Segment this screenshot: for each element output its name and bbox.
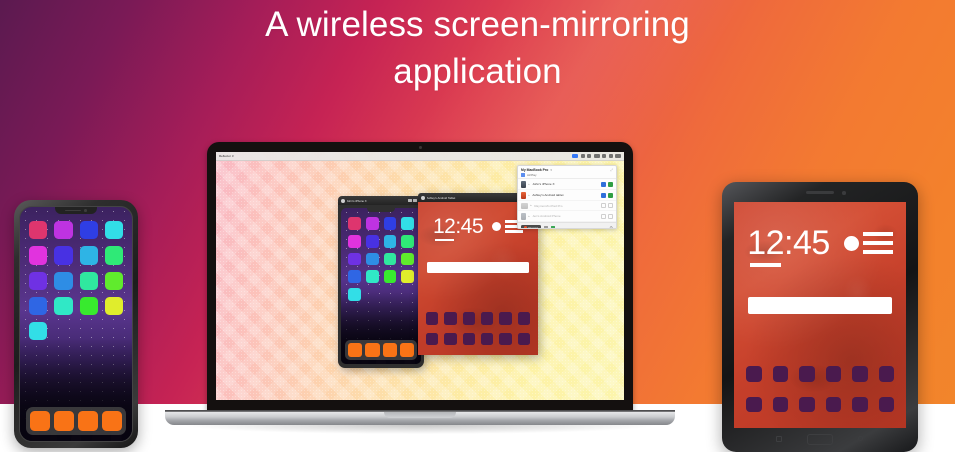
device-name: Jen's Android Phone — [532, 214, 598, 218]
app-icon[interactable] — [481, 312, 493, 324]
panel-title-row: My MacBook Pro ▾ ⤢ — [521, 168, 613, 172]
device-name: John's iPhone X — [532, 182, 598, 186]
app-icon[interactable] — [366, 270, 379, 283]
menubar-status-group — [572, 154, 621, 158]
app-icon[interactable] — [384, 270, 397, 283]
app-icon[interactable] — [481, 333, 493, 345]
cast-icon-off[interactable] — [601, 214, 606, 219]
cast-icon[interactable] — [601, 193, 606, 198]
mirrored-phone-title: John's iPhone X — [347, 199, 407, 203]
dock-app-icon[interactable] — [102, 411, 122, 431]
laptop-device: Reflector 3 John's iPhone X — [165, 142, 675, 430]
dock-app-icon[interactable] — [365, 343, 379, 357]
tablet-clock: 12:45 — [433, 216, 483, 237]
phone-icon — [521, 181, 526, 188]
phone-app-grid — [20, 207, 132, 340]
device-actions — [601, 203, 614, 208]
hamburger-icon — [863, 232, 893, 254]
app-icon[interactable] — [746, 397, 762, 413]
reflector-device-panel[interactable]: My MacBook Pro ▾ ⤢ AirPlay ▸John's iPhon… — [517, 165, 617, 229]
screen-mirror-icon[interactable] — [572, 154, 578, 158]
device-icon — [341, 199, 345, 203]
app-icon[interactable] — [54, 272, 72, 290]
tablet-app-grid — [746, 366, 894, 412]
circle-and-lines-widget — [844, 232, 893, 254]
app-icon[interactable] — [401, 235, 414, 248]
search-icon[interactable] — [602, 154, 606, 158]
app-icon[interactable] — [105, 297, 123, 315]
app-icon[interactable] — [799, 366, 815, 382]
app-icon[interactable] — [348, 235, 361, 248]
chevron-right-icon[interactable]: ▸ — [529, 194, 530, 197]
app-icon[interactable] — [105, 246, 123, 264]
screen-icon-off[interactable] — [608, 214, 613, 219]
tablet-icon — [521, 192, 526, 199]
app-icon[interactable] — [518, 312, 530, 324]
chevron-down-icon[interactable]: ▾ — [550, 168, 552, 172]
tablet-icon — [521, 203, 528, 209]
app-icon[interactable] — [826, 366, 842, 382]
record-button-label: Record — [529, 226, 538, 230]
app-icon[interactable] — [401, 217, 414, 230]
mirrored-phone-window[interactable]: John's iPhone X — [338, 196, 424, 368]
device-icon — [421, 196, 425, 200]
chevron-right-icon[interactable]: ▸ — [529, 215, 530, 218]
app-icon[interactable] — [773, 397, 789, 413]
panel-footer: Record ⚙ — [518, 222, 616, 229]
tablet-status-row: 12:45 — [734, 226, 906, 260]
circle-icon — [492, 222, 501, 231]
app-icon[interactable] — [348, 270, 361, 283]
app-icon[interactable] — [105, 221, 123, 239]
app-icon[interactable] — [80, 272, 98, 290]
chevron-right-icon[interactable]: ▸ — [529, 183, 530, 186]
app-icon[interactable] — [384, 235, 397, 248]
app-icon[interactable] — [401, 253, 414, 266]
app-icon[interactable] — [384, 217, 397, 230]
connection-icon[interactable] — [544, 226, 548, 230]
device-list-item[interactable]: ▸Raymond's iPad Pro — [518, 201, 616, 211]
record-led-icon — [524, 226, 527, 229]
app-icon[interactable] — [105, 272, 123, 290]
recent-button[interactable] — [858, 436, 863, 441]
phone-icon — [521, 213, 526, 220]
record-button[interactable]: Record — [521, 225, 541, 230]
dock-app-icon[interactable] — [30, 411, 50, 431]
app-icon[interactable] — [366, 217, 379, 230]
dock-app-icon[interactable] — [78, 411, 98, 431]
app-icon[interactable] — [746, 366, 762, 382]
device-actions — [601, 193, 614, 198]
device-list-item[interactable]: ▸John's iPhone X — [518, 179, 616, 190]
app-icon[interactable] — [54, 246, 72, 264]
app-icon[interactable] — [29, 297, 47, 315]
battery-icon[interactable] — [594, 154, 600, 158]
device-actions — [601, 214, 614, 219]
app-icon[interactable] — [444, 333, 456, 345]
laptop-screen: Reflector 3 John's iPhone X — [216, 152, 624, 400]
app-icon[interactable] — [852, 366, 868, 382]
app-icon[interactable] — [826, 397, 842, 413]
app-icon[interactable] — [799, 397, 815, 413]
page-title: A wireless screen-mirroring application — [0, 2, 955, 95]
mirrored-tablet-title: Ashley's Android Tablet — [427, 196, 526, 200]
wifi-icon[interactable] — [581, 154, 585, 158]
back-button[interactable] — [776, 436, 782, 442]
app-icon[interactable] — [366, 235, 379, 248]
device-actions — [601, 182, 614, 187]
tablet-search-bar[interactable] — [748, 297, 892, 314]
laptop-base-notch — [384, 412, 456, 418]
chevron-right-icon[interactable]: ▸ — [531, 204, 532, 207]
screen-icon-off[interactable] — [608, 203, 613, 208]
device-name: Ashley's Android tablet — [532, 193, 598, 197]
headline-line-2: application — [0, 49, 955, 96]
mirrored-phone-body — [338, 205, 424, 368]
app-icon[interactable] — [444, 312, 456, 324]
cast-icon-off[interactable] — [601, 203, 606, 208]
dock-app-icon[interactable] — [383, 343, 397, 357]
earpiece-speaker-icon — [65, 210, 81, 212]
device-list-item[interactable]: ▸Ashley's Android tablet — [518, 190, 616, 201]
tablet-clock: 12:45 — [747, 226, 830, 260]
laptop-camera-icon — [419, 146, 422, 149]
menubar-left-group: Reflector 3 — [219, 154, 234, 158]
app-icon[interactable] — [773, 366, 789, 382]
page-bottom-band-right — [920, 412, 955, 452]
app-icon[interactable] — [463, 333, 475, 345]
app-icon[interactable] — [384, 253, 397, 266]
app-icon[interactable] — [463, 312, 475, 324]
circle-icon — [844, 236, 859, 251]
app-icon[interactable] — [518, 333, 530, 345]
device-list: ▸John's iPhone X▸Ashley's Android tablet… — [518, 179, 616, 222]
app-icon[interactable] — [29, 322, 47, 340]
iphone-screen — [19, 206, 133, 442]
maximize-button[interactable] — [413, 199, 417, 203]
earpiece-speaker-icon — [806, 191, 834, 194]
front-camera-icon — [84, 209, 87, 212]
iphone-device — [14, 200, 138, 448]
phone-dock — [345, 340, 417, 360]
panel-header: My MacBook Pro ▾ ⤢ AirPlay — [518, 166, 616, 179]
tablet-app-grid — [426, 312, 530, 345]
app-icon[interactable] — [54, 221, 72, 239]
app-icon[interactable] — [499, 333, 511, 345]
panel-title: My MacBook Pro — [521, 168, 548, 172]
app-icon[interactable] — [879, 397, 895, 413]
panel-subtitle-row: AirPlay — [521, 173, 613, 177]
mirrored-phone-screen — [341, 208, 421, 364]
app-icon[interactable] — [80, 297, 98, 315]
cast-icon[interactable] — [601, 182, 606, 187]
app-icon[interactable] — [348, 217, 361, 230]
app-icon[interactable] — [80, 221, 98, 239]
app-icon[interactable] — [426, 312, 438, 324]
screen-icon[interactable] — [608, 193, 613, 198]
battery-icon[interactable] — [551, 226, 555, 230]
app-icon[interactable] — [879, 366, 895, 382]
phone-notch — [55, 207, 97, 214]
front-camera-icon — [842, 191, 846, 195]
laptop-shadow — [187, 425, 653, 434]
app-icon[interactable] — [54, 297, 72, 315]
bluetooth-icon[interactable] — [587, 154, 591, 158]
laptop-lid: Reflector 3 John's iPhone X — [207, 142, 633, 414]
clock-icon[interactable] — [615, 154, 621, 158]
app-icon[interactable] — [348, 288, 361, 301]
tablet-screen: 12:45 — [734, 202, 906, 428]
gear-icon[interactable]: ⚙ — [609, 226, 613, 230]
expand-icon[interactable]: ⤢ — [610, 168, 613, 172]
app-icon[interactable] — [29, 272, 47, 290]
app-icon[interactable] — [426, 333, 438, 345]
app-icon[interactable] — [499, 312, 511, 324]
tablet-search-bar[interactable] — [427, 262, 529, 273]
device-name: Raymond's iPad Pro — [534, 204, 598, 208]
android-tablet-device: 12:45 — [722, 182, 918, 452]
home-button[interactable] — [807, 434, 833, 445]
app-icon[interactable] — [80, 246, 98, 264]
airplay-icon — [521, 173, 525, 177]
screen-icon[interactable] — [608, 182, 613, 187]
macos-menubar[interactable]: Reflector 3 — [216, 152, 624, 161]
control-center-icon[interactable] — [609, 154, 613, 158]
app-icon[interactable] — [29, 246, 47, 264]
phone-app-grid — [341, 208, 421, 301]
dock-app-icon[interactable] — [348, 343, 362, 357]
app-icon[interactable] — [401, 270, 414, 283]
minimize-button[interactable] — [408, 199, 412, 203]
device-list-item[interactable]: ▸Jen's Android Phone — [518, 211, 616, 222]
app-icon[interactable] — [348, 253, 361, 266]
phone-dock — [26, 407, 126, 435]
dock-app-icon[interactable] — [400, 343, 414, 357]
menubar-app-name[interactable]: Reflector 3 — [219, 154, 234, 158]
mirrored-phone-titlebar[interactable]: John's iPhone X — [338, 196, 424, 205]
dock-app-icon[interactable] — [54, 411, 74, 431]
headline-line-1: A wireless screen-mirroring — [265, 5, 690, 44]
panel-subtitle: AirPlay — [527, 173, 537, 177]
app-icon[interactable] — [852, 397, 868, 413]
app-icon[interactable] — [29, 221, 47, 239]
app-icon[interactable] — [366, 253, 379, 266]
